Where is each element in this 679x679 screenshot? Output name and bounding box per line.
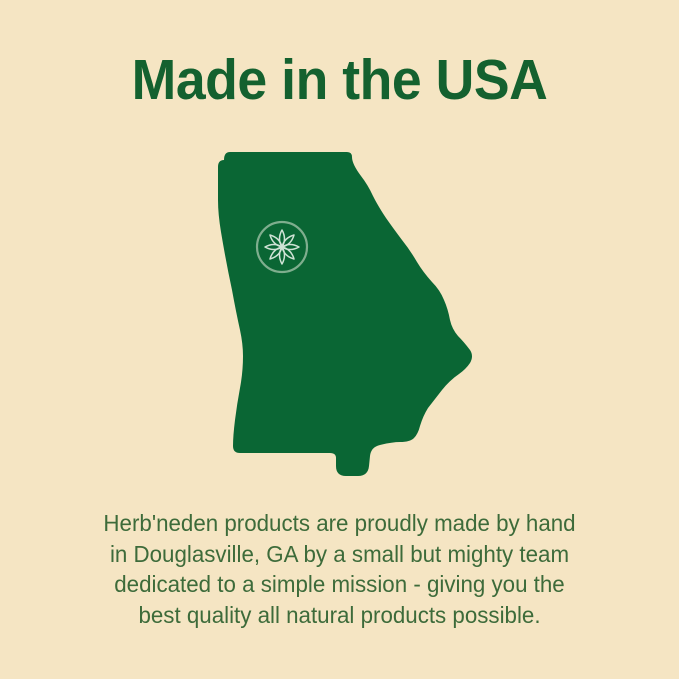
body-copy-line-3: dedicated to a simple mission - giving y… xyxy=(51,569,628,600)
georgia-map-illustration xyxy=(0,140,679,490)
made-in-usa-poster: Made in the USA xyxy=(0,0,679,679)
body-copy-line-1: Herb'neden products are proudly made by … xyxy=(51,508,628,539)
body-copy-line-4: best quality all natural products possib… xyxy=(51,600,628,631)
body-copy: Herb'neden products are proudly made by … xyxy=(51,508,628,630)
map-figure xyxy=(0,140,679,490)
page-title: Made in the USA xyxy=(20,48,658,112)
georgia-state-shape xyxy=(218,152,472,476)
body-copy-line-2: in Douglasville, GA by a small but might… xyxy=(51,539,628,570)
